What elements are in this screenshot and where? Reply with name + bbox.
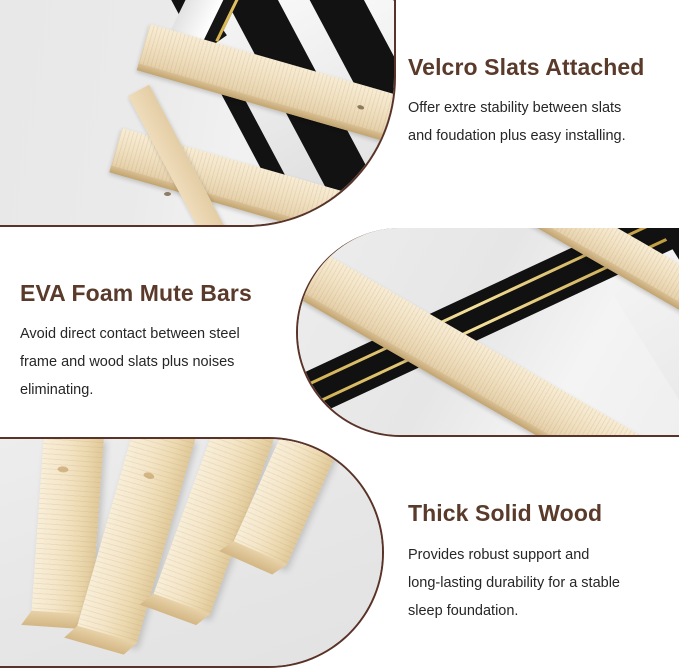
velcro-photo-artwork [0, 0, 394, 225]
eva-body-line-3: eliminating. [20, 376, 280, 404]
screw-hole-lower [164, 192, 171, 196]
wood-heading: Thick Solid Wood [408, 498, 658, 528]
velcro-heading: Velcro Slats Attached [408, 52, 658, 82]
eva-body-line-2: frame and wood slats plus noises [20, 348, 280, 376]
wood-knot [57, 466, 68, 473]
eva-heading: EVA Foam Mute Bars [20, 278, 280, 308]
wood-body-line-3: sleep foundation. [408, 597, 658, 625]
wood-body: Provides robust support and long-lasting… [408, 541, 658, 625]
thick-solid-wood-photo [0, 437, 384, 668]
eva-body-line-1: Avoid direct contact between steel [20, 320, 280, 348]
eva-foam-mute-bars-photo [296, 228, 679, 437]
wood-photo-artwork [0, 439, 382, 666]
eva-body: Avoid direct contact between steel frame… [20, 320, 280, 404]
infographic-canvas: Velcro Slats Attached Offer extre stabil… [0, 0, 679, 668]
velcro-body-line-2: and foudation plus easy installing. [408, 122, 658, 150]
eva-text-block: EVA Foam Mute Bars Avoid direct contact … [20, 278, 280, 404]
velcro-slats-photo [0, 0, 396, 227]
wood-text-block: Thick Solid Wood Provides robust support… [408, 498, 658, 625]
screw-hole [357, 104, 365, 110]
wood-knot [143, 471, 155, 480]
velcro-body-line-1: Offer extre stability between slats [408, 94, 658, 122]
velcro-text-block: Velcro Slats Attached Offer extre stabil… [408, 52, 658, 150]
eva-photo-artwork [298, 228, 679, 435]
wood-body-line-2: long-lasting durability for a stable [408, 569, 658, 597]
wood-body-line-1: Provides robust support and [408, 541, 658, 569]
velcro-body: Offer extre stability between slats and … [408, 94, 658, 150]
